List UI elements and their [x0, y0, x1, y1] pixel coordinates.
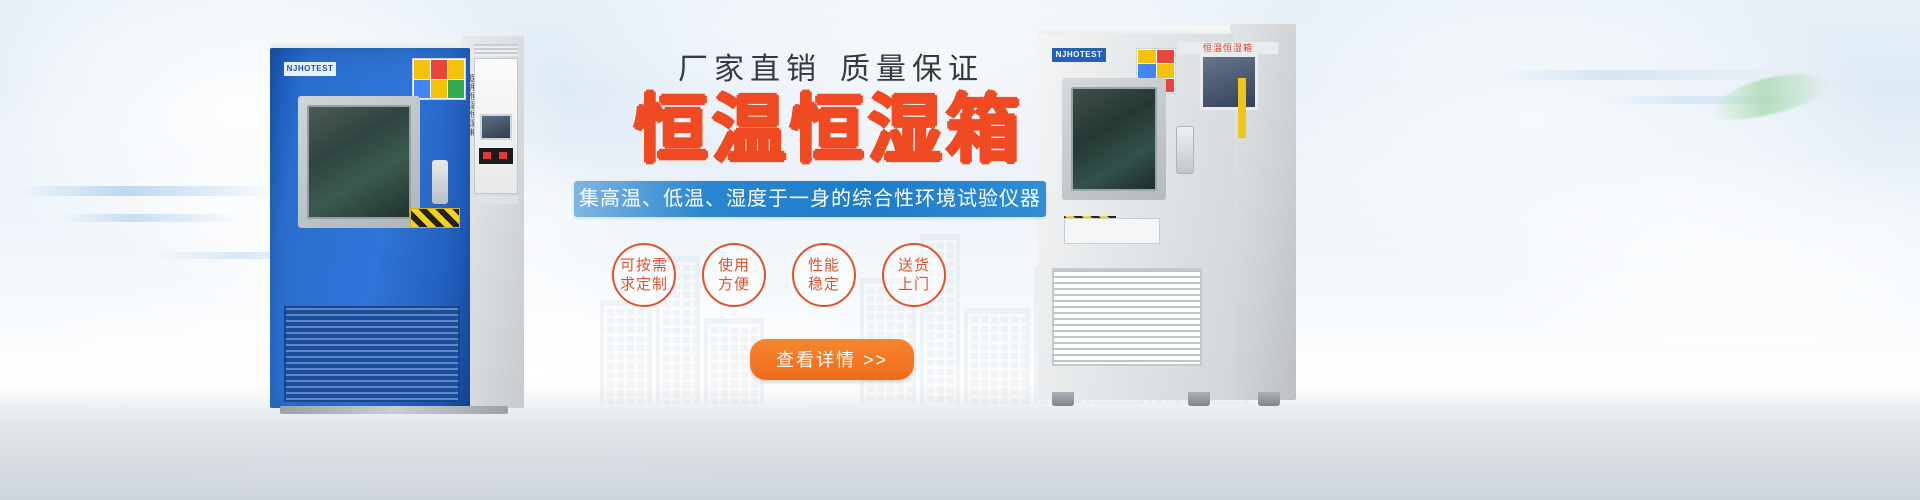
chamber-door	[1062, 78, 1166, 200]
chamber-foot	[1258, 392, 1280, 406]
sky-streak-decoration	[1490, 70, 1790, 80]
product-image-left-chamber: NJHOTEST 医用恒温恒湿箱	[262, 30, 524, 408]
ventilation-grille	[1052, 268, 1202, 366]
sky-streak-decoration	[20, 186, 280, 196]
ventilation-grille	[284, 306, 460, 402]
control-screen	[480, 114, 512, 140]
feature-badge-delivery[interactable]: 送货 上门	[882, 243, 946, 307]
feature-badge-custom[interactable]: 可按需 求定制	[612, 243, 676, 307]
promo-banner: NJHOTEST 医用恒温恒湿箱 NJHOTEST 恒温恒湿箱	[0, 0, 1920, 500]
badge-line-2: 上门	[898, 275, 930, 294]
hazard-stripe	[410, 208, 460, 228]
spec-plate	[1064, 218, 1160, 244]
chamber-door	[298, 96, 420, 228]
right-chamber-brand-logo: NJHOTEST	[1052, 48, 1106, 62]
badge-line-2: 方便	[718, 275, 750, 294]
view-details-button[interactable]: 查看详情 >>	[750, 339, 914, 380]
product-image-right-chamber: NJHOTEST 恒温恒湿箱	[1028, 18, 1296, 400]
chamber-foot	[1052, 392, 1074, 406]
tagline-part-2: 质量保证	[840, 53, 984, 86]
yellow-accent-stripe	[1238, 78, 1246, 138]
leaf-decoration	[1707, 64, 1832, 128]
chamber-base	[280, 406, 508, 414]
control-indicator-lights	[479, 148, 513, 164]
control-screen	[1200, 54, 1258, 110]
banner-headline: 恒温恒湿箱	[598, 92, 1060, 169]
cloud-decoration	[1480, 150, 1920, 370]
warning-label-grid	[412, 58, 466, 100]
banner-subtitle-bar: 集高温、低温、湿度于一身的综合性环境试验仪器	[574, 181, 1046, 217]
badge-line-1: 送货	[898, 256, 930, 275]
door-window	[1071, 87, 1157, 191]
banner-tagline: 厂家直销质量保证	[678, 44, 1060, 88]
feature-badge-easy-use[interactable]: 使用 方便	[702, 243, 766, 307]
sky-streak-decoration	[60, 214, 240, 222]
left-chamber-brand-logo: NJHOTEST	[284, 62, 336, 76]
feature-badge-stable[interactable]: 性能 稳定	[792, 243, 856, 307]
badge-line-1: 可按需	[620, 256, 668, 275]
feature-badge-list: 可按需 求定制 使用 方便 性能 稳定 送货 上门	[612, 243, 1060, 307]
door-handle	[1176, 126, 1194, 174]
badge-line-1: 性能	[808, 256, 840, 275]
chamber-foot	[1188, 392, 1210, 406]
badge-line-2: 求定制	[620, 275, 668, 294]
sky-streak-decoration	[1600, 96, 1820, 104]
cta-container: 查看详情 >>	[604, 339, 1060, 380]
badge-line-2: 稳定	[808, 275, 840, 294]
door-window	[307, 105, 411, 219]
tagline-part-1: 厂家直销	[678, 53, 822, 86]
right-chamber-brand-caption: 恒温恒湿箱	[1178, 42, 1278, 54]
banner-copy-block: 厂家直销质量保证 恒温恒湿箱 集高温、低温、湿度于一身的综合性环境试验仪器 可按…	[560, 44, 1060, 380]
door-handle	[432, 160, 448, 204]
badge-line-1: 使用	[718, 256, 750, 275]
